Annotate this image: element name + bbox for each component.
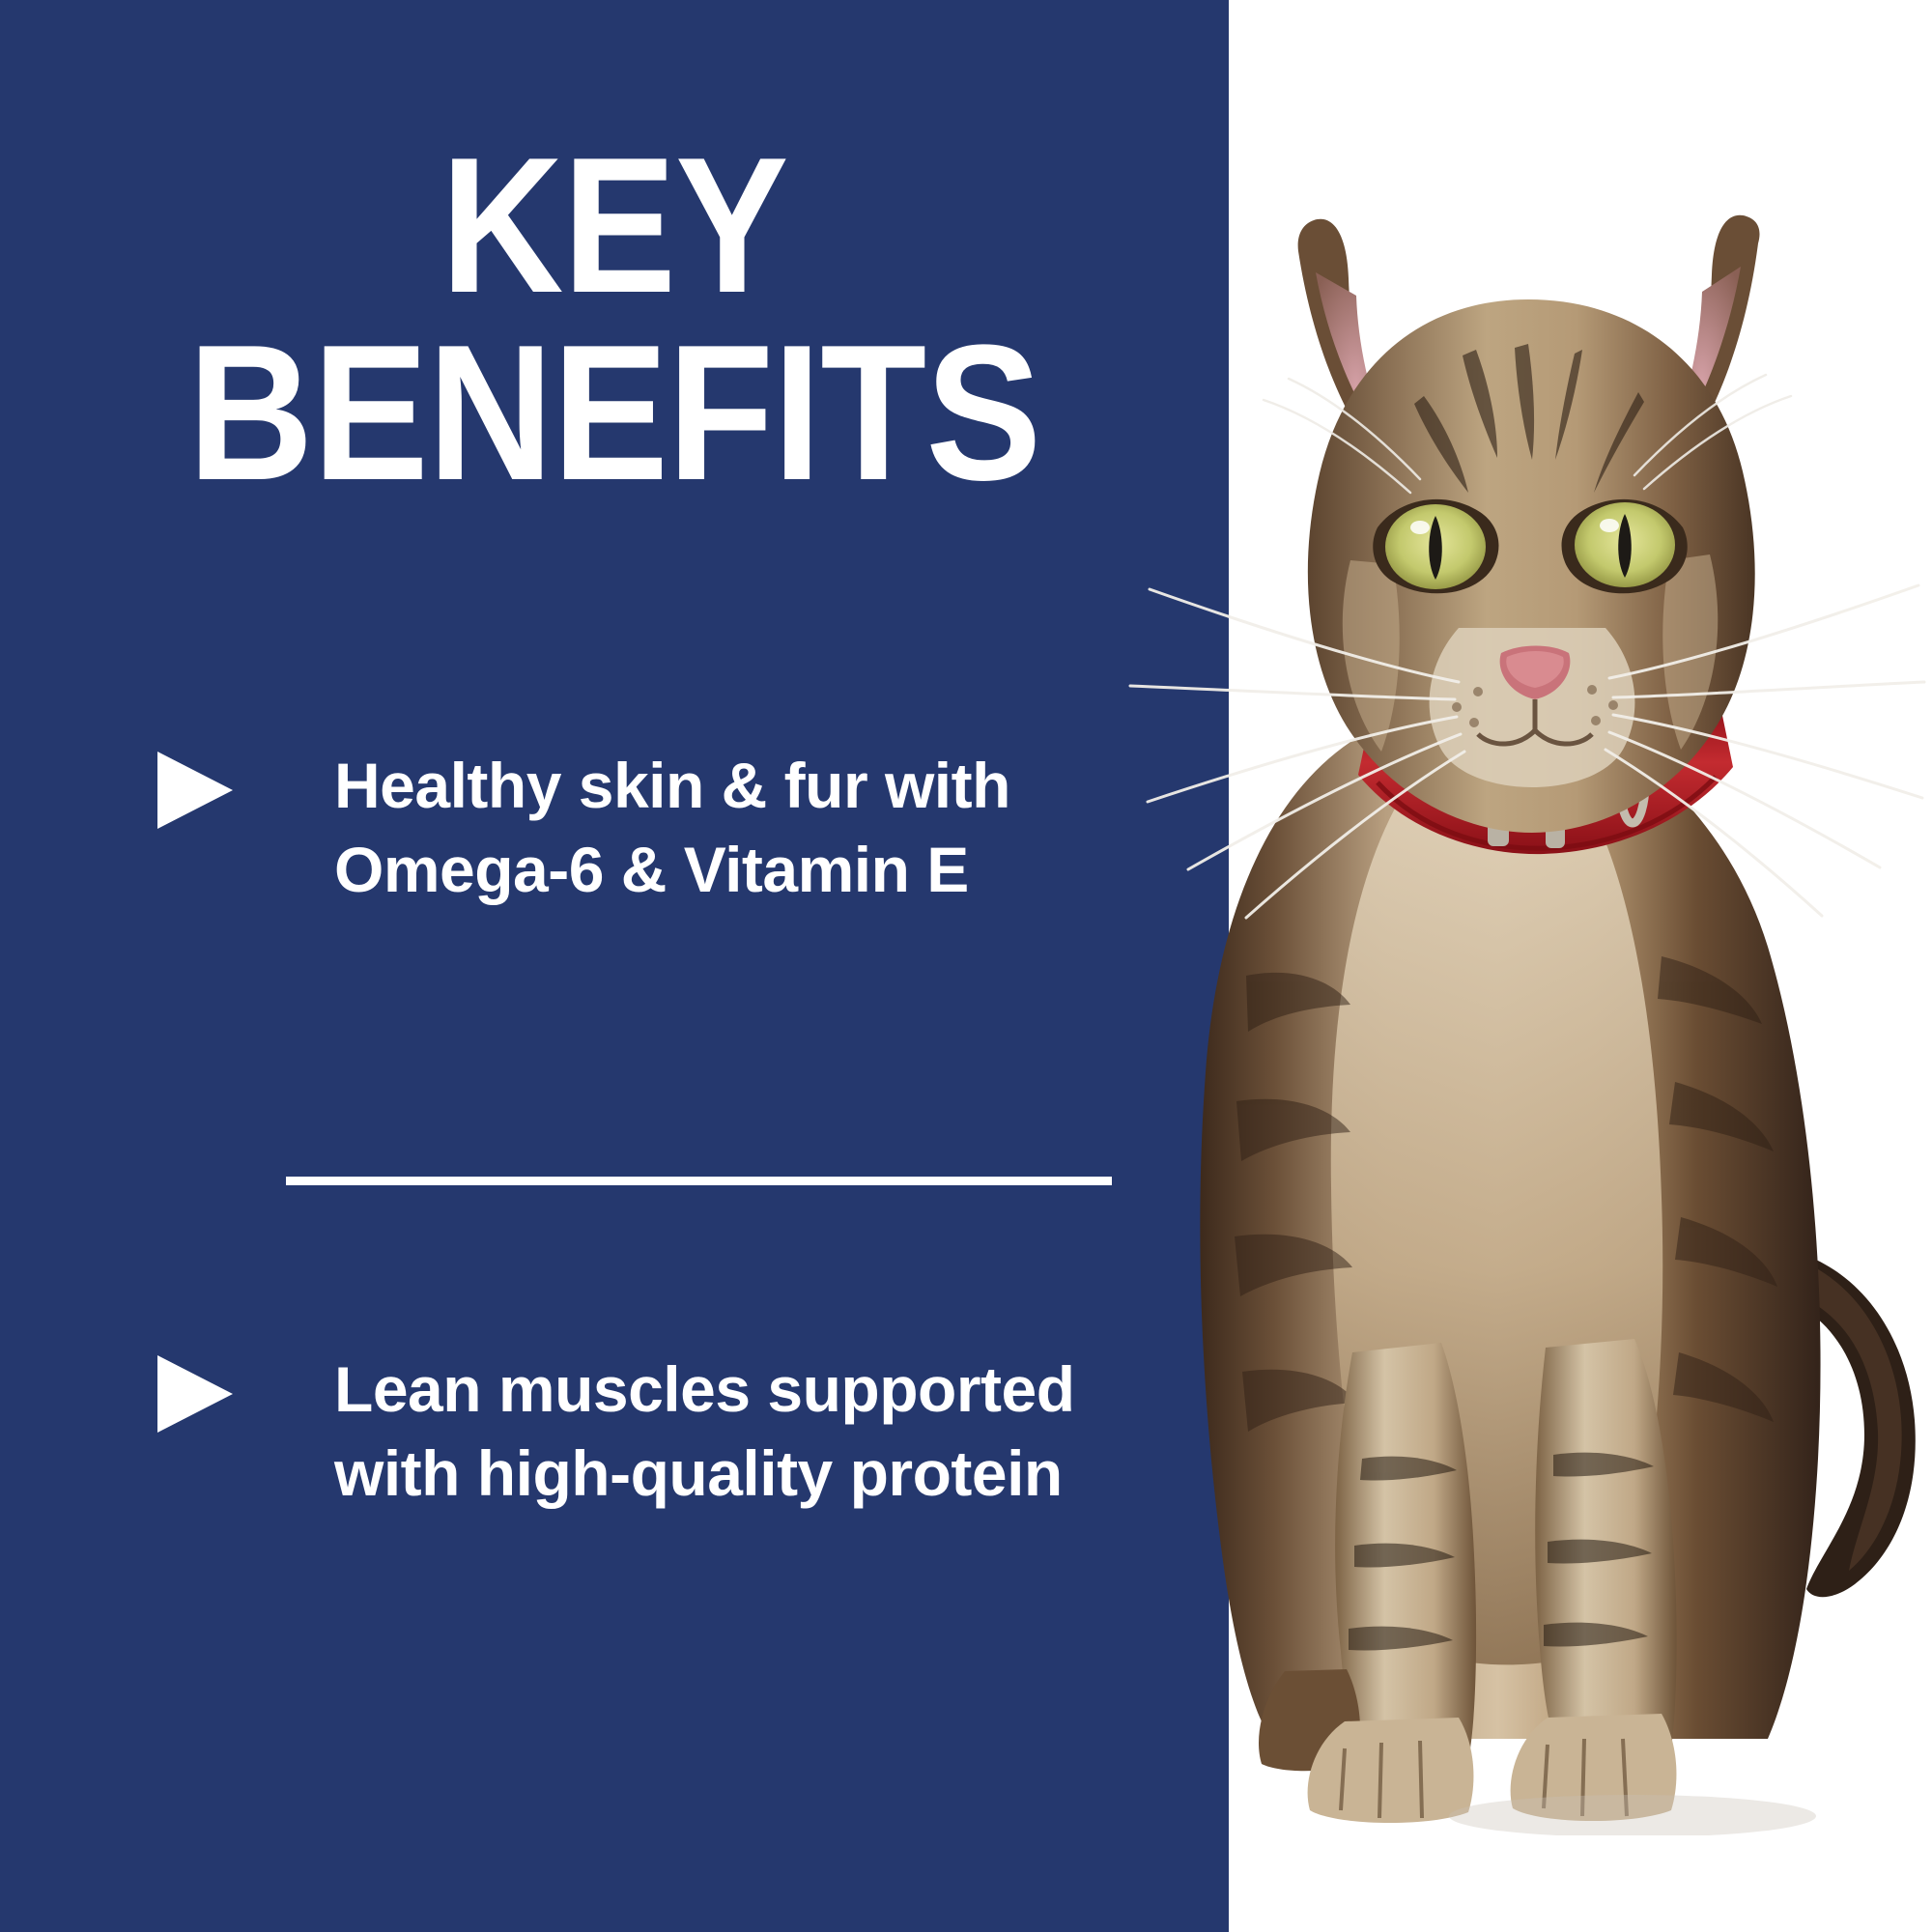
benefit-item-1-label: Healthy skin & fur with Omega-6 & Vitami…	[334, 744, 1030, 912]
benefit-item-2: Lean muscles supported with high-quality…	[0, 1348, 1229, 1516]
triangle-right-icon	[157, 1355, 233, 1433]
benefit-item-1: Healthy skin & fur with Omega-6 & Vitami…	[0, 744, 1229, 912]
key-benefits-panel-page: KEY BENEFITS Healthy skin & fur with Ome…	[0, 0, 1932, 1932]
page-title-line-1: KEY	[73, 135, 1154, 317]
benefit-item-2-label: Lean muscles supported with high-quality…	[334, 1348, 1107, 1516]
triangle-right-icon	[157, 752, 233, 829]
page-title-line-2: BENEFITS	[62, 323, 1168, 504]
benefits-list-second: Lean muscles supported with high-quality…	[0, 1348, 1229, 1516]
benefits-list: Healthy skin & fur with Omega-6 & Vitami…	[0, 744, 1229, 912]
cat-photo-area	[1229, 0, 1932, 1932]
page-title: KEY BENEFITS	[0, 135, 1229, 504]
benefits-divider	[286, 1177, 1112, 1185]
